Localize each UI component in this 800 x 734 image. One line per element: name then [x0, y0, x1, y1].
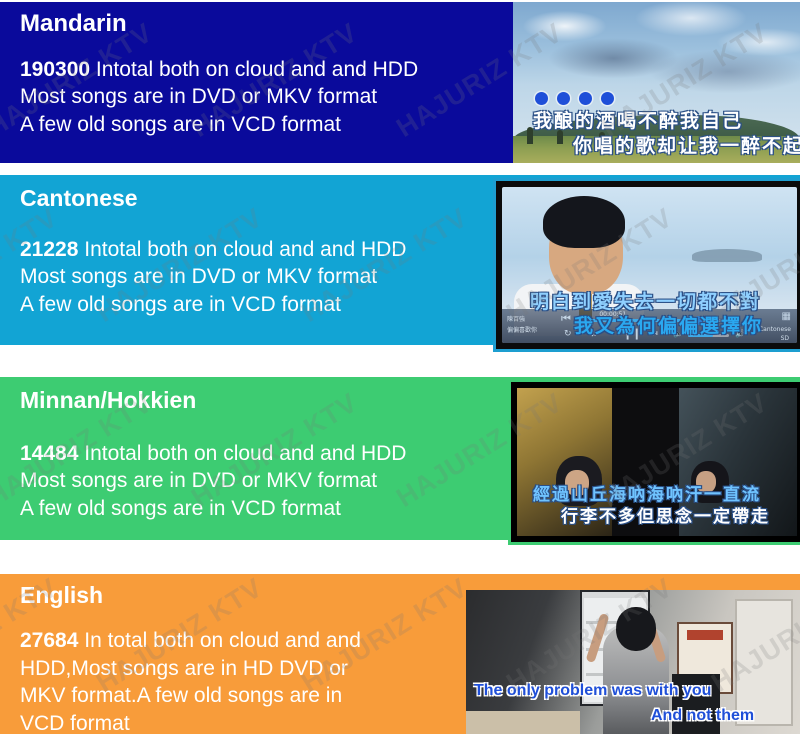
- panel-mandarin-song-count: 190300: [20, 58, 90, 81]
- panel-minnan-song-count: 14484: [20, 442, 78, 465]
- ktv-language-catalog: Mandarin 190300 Intotal both on cloud an…: [0, 0, 800, 734]
- person-hair: [543, 196, 625, 248]
- cantonese-karaoke-thumbnail: 明白到愛失去一切都不對 我又為何偏偏選擇你 陳百強 偏偏喜歡你 00:00:51…: [493, 178, 800, 352]
- english-lyric-line-2: And not them: [651, 707, 754, 725]
- previous-track-icon[interactable]: ⏮: [561, 313, 571, 326]
- player-title-label: 偏偏喜歡你: [507, 325, 537, 334]
- minnan-karaoke-thumbnail: 經過山丘海吶海吶汗一直流 行李不多但思念一定帶走: [508, 379, 800, 545]
- player-audio-track-label: Cantonese: [759, 326, 791, 333]
- panel-cantonese-description-text: Intotal both on cloud and and HDD Most s…: [20, 238, 406, 316]
- panel-cantonese-song-count: 21228: [20, 238, 78, 261]
- player-artist-label: 陳百強: [507, 314, 525, 323]
- person-head: [616, 607, 656, 651]
- tv-screen: 明白到愛失去一切都不對 我又為何偏偏選擇你 陳百強 偏偏喜歡你 00:00:51…: [502, 187, 797, 343]
- repeat-icon[interactable]: ↻: [564, 328, 572, 339]
- player-quality-label: SD: [781, 335, 789, 342]
- grid-menu-icon[interactable]: ▦: [782, 311, 791, 322]
- panel-english-song-count: 27684: [20, 629, 78, 652]
- mandarin-lyric-line-1: 我酿的酒喝不醉我自己: [533, 106, 743, 133]
- minnan-lyric-line-2: 行李不多但思念一定帶走: [561, 502, 770, 527]
- cantonese-lyric-line-2: 我又為何偏偏選擇你: [574, 311, 763, 338]
- english-karaoke-thumbnail: The only problem was with you And not th…: [466, 590, 800, 734]
- karaoke-countdown-dots: [535, 92, 614, 105]
- tv-screen: 經過山丘海吶海吶汗一直流 行李不多但思念一定帶走: [517, 388, 797, 536]
- mandarin-karaoke-thumbnail: 我酿的酒喝不醉我自己 你唱的歌却让我一醉不起: [513, 2, 800, 163]
- mandarin-lyric-line-2: 你唱的歌却让我一醉不起: [573, 131, 800, 158]
- cantonese-lyric-line-1: 明白到愛失去一切都不對: [530, 287, 761, 314]
- island-shape: [692, 249, 762, 262]
- counter-top: [466, 711, 580, 734]
- english-lyric-line-1: The only problem was with you: [474, 682, 711, 700]
- panel-minnan-description-text: Intotal both on cloud and and HDD Most s…: [20, 442, 406, 520]
